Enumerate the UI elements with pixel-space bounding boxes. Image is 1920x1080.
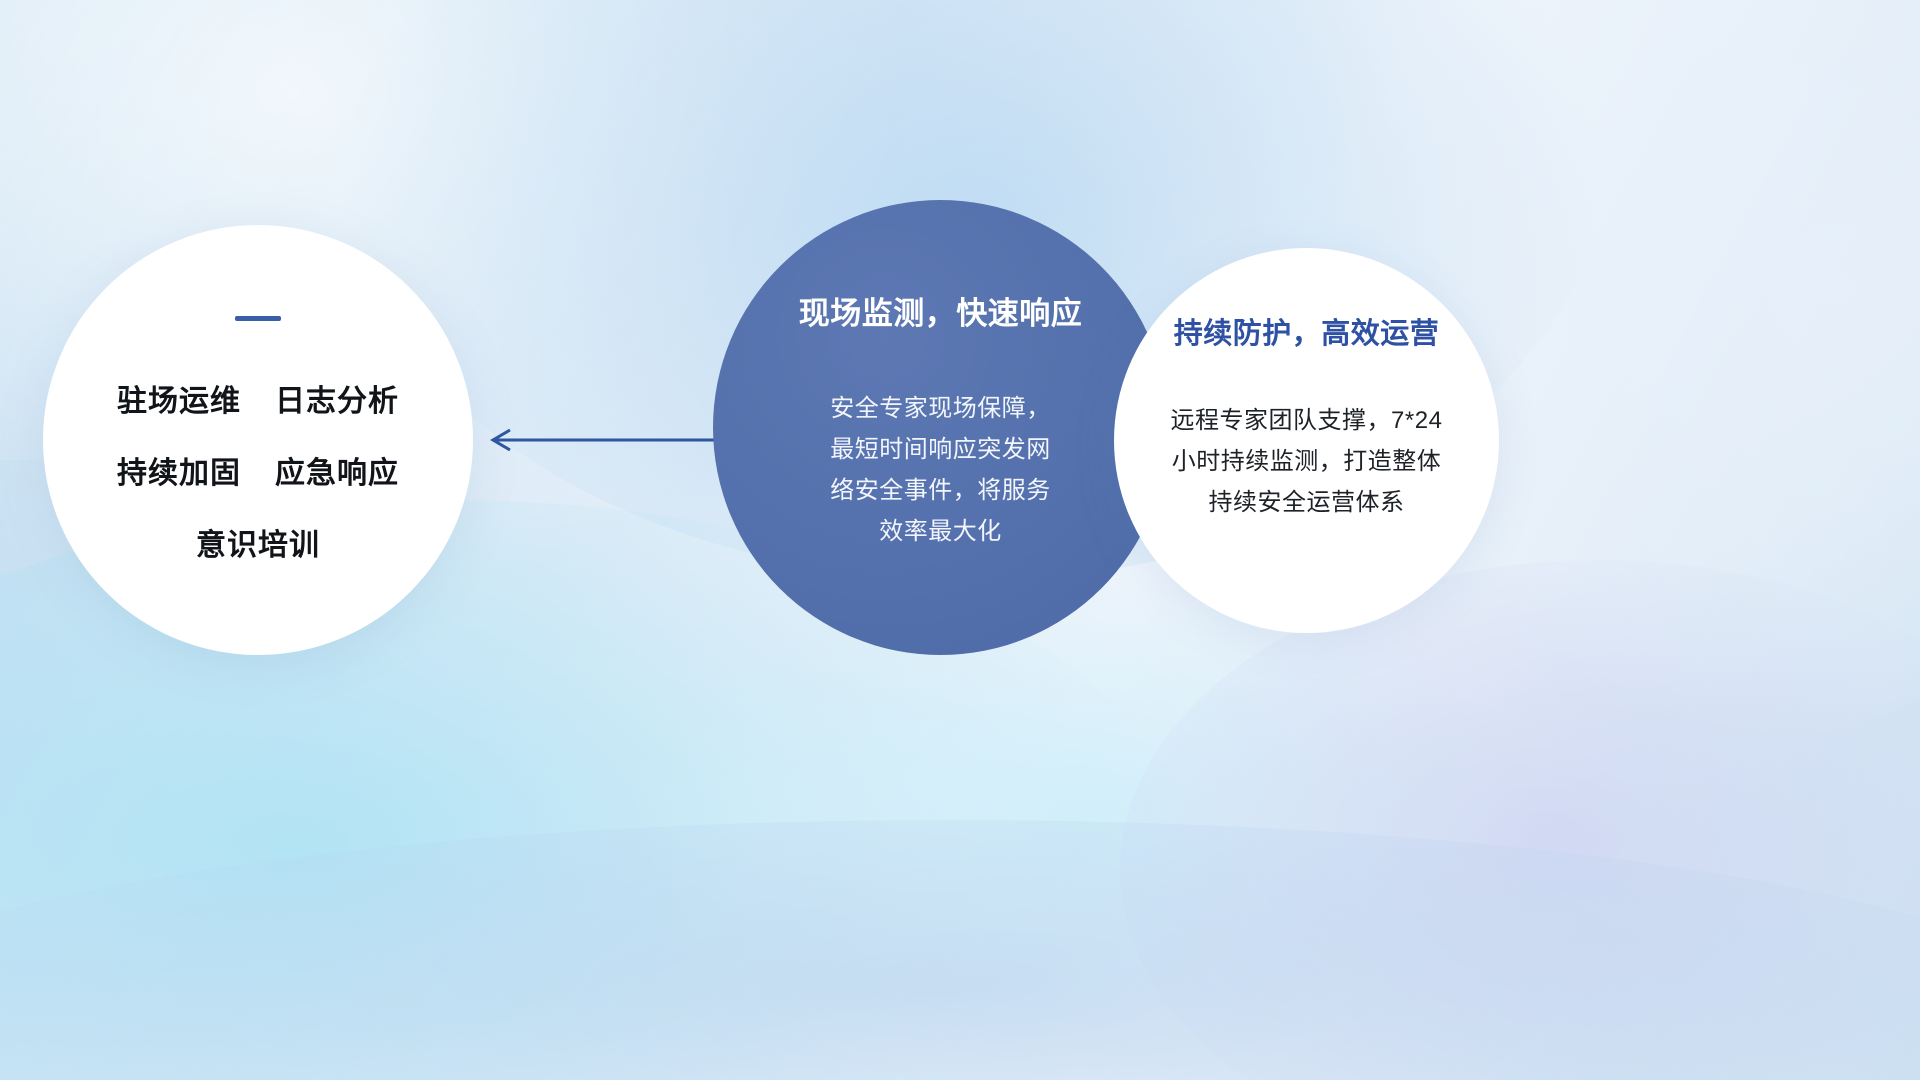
body-line: 络安全事件，将服务: [806, 470, 1076, 511]
slide-canvas: 驻场运维 日志分析 持续加固 应急响应 意识培训 现场监测，快速响应 安全专家现…: [0, 0, 1920, 1080]
right-circle-title: 持续防护，高效运营: [1174, 310, 1440, 352]
connector-arrow-icon: [480, 418, 720, 462]
capability-tag: 驻场运维: [117, 376, 241, 420]
capability-tag: 日志分析: [275, 376, 399, 420]
capability-tag-row: 意识培训: [196, 520, 320, 564]
background-glow-lower-mid: [640, 560, 1540, 1080]
background-glow-lower-right: [1120, 560, 1920, 1080]
body-line: 小时持续监测，打造整体: [1142, 441, 1472, 482]
capability-tag-row: 持续加固 应急响应: [117, 448, 399, 492]
body-line: 安全专家现场保障，: [806, 388, 1076, 429]
right-circle-body: 远程专家团队支撑，7*24 小时持续监测，打造整体 持续安全运营体系: [1142, 400, 1472, 523]
body-line: 远程专家团队支撑，7*24: [1142, 400, 1472, 441]
background-glow-bottom: [0, 820, 1920, 1080]
middle-circle-title: 现场监测，快速响应: [799, 288, 1083, 333]
capability-tag: 持续加固: [117, 448, 241, 492]
capability-tag-list: 驻场运维 日志分析 持续加固 应急响应 意识培训: [117, 376, 399, 564]
right-operations-circle: 持续防护，高效运营 远程专家团队支撑，7*24 小时持续监测，打造整体 持续安全…: [1114, 248, 1499, 633]
middle-circle-body: 安全专家现场保障， 最短时间响应突发网 络安全事件，将服务 效率最大化: [806, 388, 1076, 552]
capability-tag: 意识培训: [196, 520, 320, 564]
middle-onsite-circle: 现场监测，快速响应 安全专家现场保障， 最短时间响应突发网 络安全事件，将服务 …: [713, 200, 1168, 655]
body-line: 效率最大化: [806, 511, 1076, 552]
capability-tag-row: 驻场运维 日志分析: [117, 376, 399, 420]
body-line: 持续安全运营体系: [1142, 482, 1472, 523]
capability-tag: 应急响应: [275, 448, 399, 492]
title-divider-dash-icon: [235, 316, 281, 321]
left-capability-circle: 驻场运维 日志分析 持续加固 应急响应 意识培训: [43, 225, 473, 655]
body-line: 最短时间响应突发网: [806, 429, 1076, 470]
